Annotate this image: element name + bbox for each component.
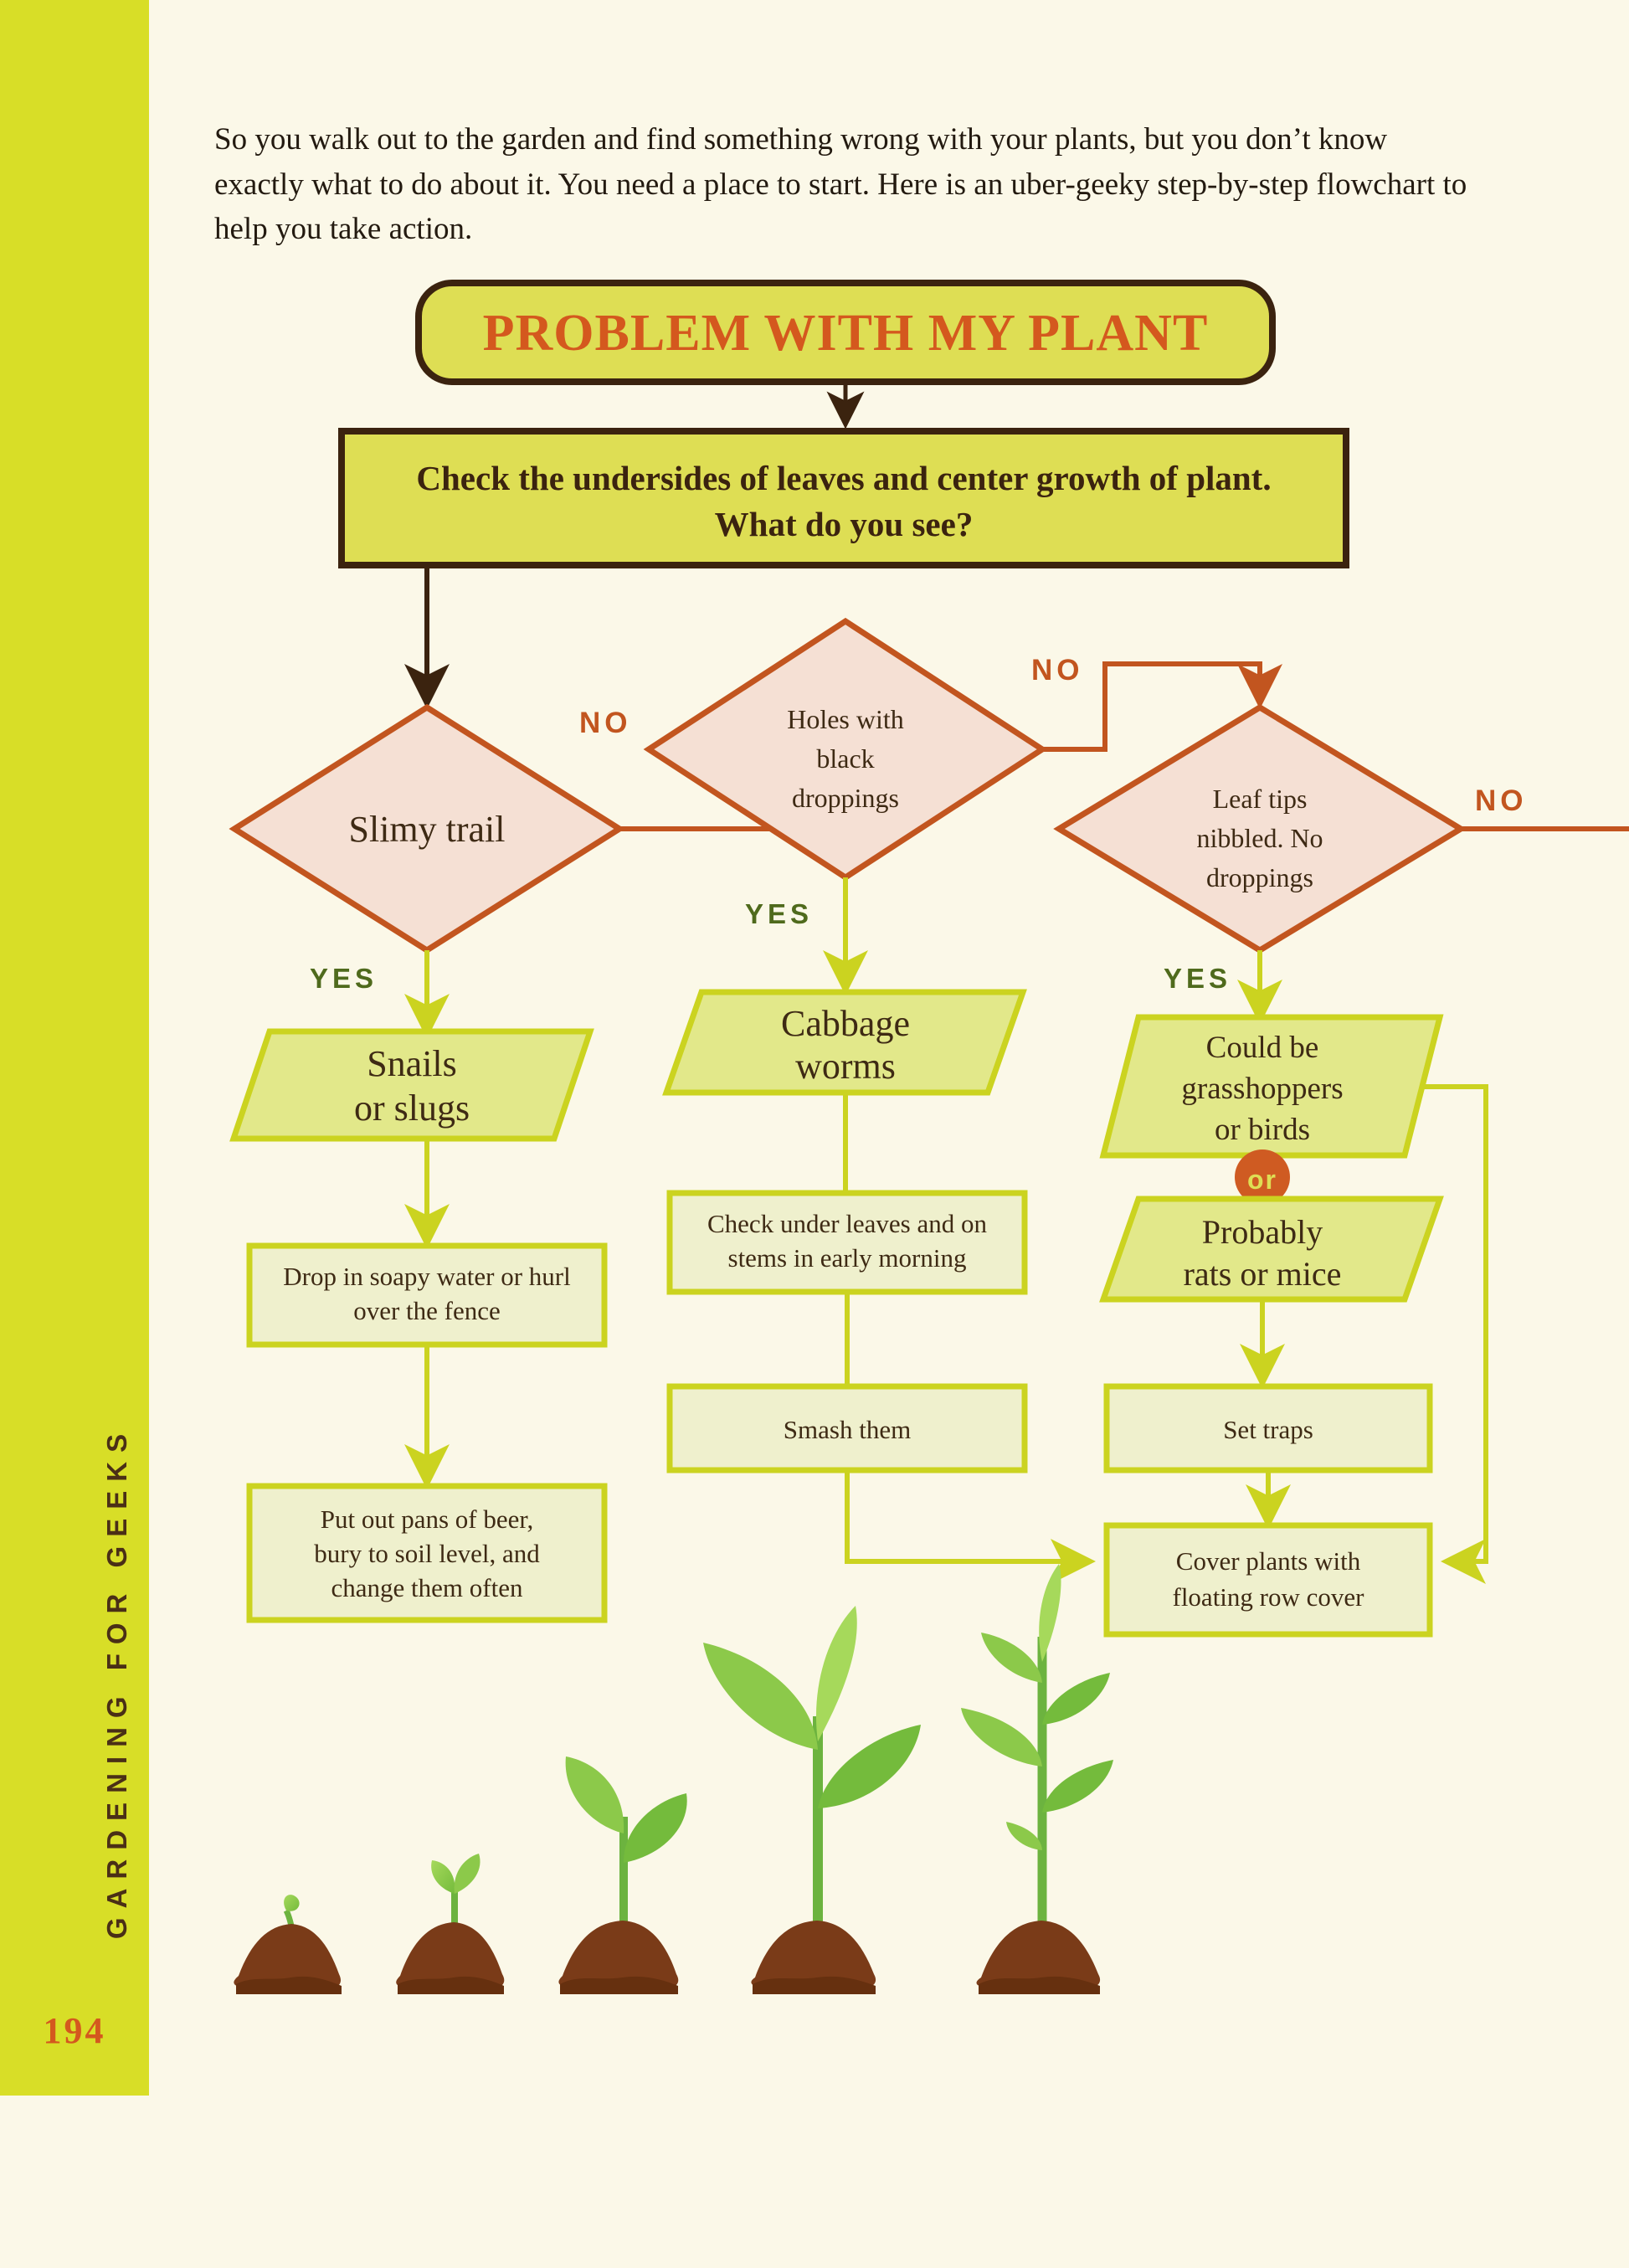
result-snails-line-2: or slugs (354, 1088, 470, 1129)
result-snails-or-slugs[interactable]: Snails or slugs (234, 1031, 590, 1139)
edge-smash-to-cover (847, 1470, 1088, 1561)
decision-leaf-line-1: Leaf tips (1213, 784, 1308, 814)
action-cover-line-1: Cover plants with (1176, 1546, 1361, 1576)
action-smash-them[interactable]: Smash them (670, 1386, 1025, 1470)
decision-slimy-trail-label: Slimy trail (349, 809, 506, 850)
result-grasshoppers-line-1: Could be (1206, 1031, 1319, 1065)
plant-stage-1 (234, 1895, 342, 1994)
result-snails-line-1: Snails (367, 1043, 457, 1084)
question-line-1: Check the undersides of leaves and cente… (416, 459, 1271, 497)
action-soapy-line-2: over the fence (353, 1296, 501, 1325)
edge-label-no-2: NO (1031, 654, 1084, 687)
action-beer-line-1: Put out pans of beer, (321, 1504, 533, 1534)
action-soapy-water[interactable]: Drop in soapy water or hurl over the fen… (249, 1246, 604, 1345)
edge-label-yes-2: YES (745, 898, 813, 929)
decision-leaf-tips-nibbled[interactable]: Leaf tips nibbled. No droppings (1059, 707, 1461, 950)
result-grasshoppers-line-3: or birds (1215, 1113, 1310, 1147)
flowchart-diagram: PROBLEM WITH MY PLANT Check the undersid… (0, 0, 1629, 2096)
action-set-traps-label: Set traps (1223, 1415, 1313, 1444)
decision-holes-black-droppings[interactable]: Holes with black droppings (649, 621, 1042, 877)
decision-holes-line-2: black (816, 743, 874, 774)
plant-stage-2 (396, 1854, 504, 1994)
or-badge-label: or (1247, 1165, 1277, 1195)
plant-stage-3 (558, 1756, 686, 1994)
action-cover-line-2: floating row cover (1173, 1582, 1365, 1612)
result-rats-line-1: Probably (1202, 1213, 1323, 1251)
action-soapy-line-1: Drop in soapy water or hurl (283, 1262, 571, 1291)
action-set-traps[interactable]: Set traps (1107, 1386, 1430, 1470)
start-node[interactable]: PROBLEM WITH MY PLANT (419, 283, 1272, 382)
result-rats-line-2: rats or mice (1184, 1255, 1342, 1293)
edge-label-no-1: NO (579, 707, 632, 739)
action-check-line-2: stems in early morning (728, 1243, 967, 1273)
action-check-line-1: Check under leaves and on (707, 1209, 987, 1238)
result-cabbage-worms[interactable]: Cabbage worms (666, 992, 1023, 1093)
decision-holes-line-1: Holes with (787, 704, 904, 734)
start-node-label: PROBLEM WITH MY PLANT (483, 305, 1209, 362)
question-node[interactable]: Check the undersides of leaves and cente… (342, 431, 1346, 565)
plant-stage-4 (703, 1606, 921, 1994)
action-check-under-leaves[interactable]: Check under leaves and on stems in early… (670, 1193, 1025, 1292)
result-grasshoppers-or-birds[interactable]: Could be grasshoppers or birds (1103, 1017, 1440, 1155)
action-smash-label: Smash them (784, 1415, 911, 1444)
plant-stage-5 (961, 1564, 1113, 1994)
decision-slimy-trail[interactable]: Slimy trail (234, 707, 619, 950)
question-line-2: What do you see? (715, 505, 974, 543)
action-pans-of-beer[interactable]: Put out pans of beer, bury to soil level… (249, 1486, 604, 1620)
action-beer-line-3: change them often (331, 1573, 523, 1602)
result-grasshoppers-line-2: grasshoppers (1181, 1072, 1343, 1106)
action-beer-line-2: bury to soil level, and (314, 1539, 540, 1568)
plant-growth-illustration (234, 1564, 1113, 1994)
decision-leaf-line-3: droppings (1206, 862, 1313, 892)
edge-grasshoppers-loop-to-cover (1421, 1087, 1486, 1561)
edge-label-yes-3: YES (1164, 963, 1231, 994)
action-floating-row-cover[interactable]: Cover plants with floating row cover (1107, 1525, 1430, 1634)
decision-holes-line-3: droppings (792, 783, 899, 813)
edge-label-yes-1: YES (310, 963, 378, 994)
edge-label-no-3: NO (1475, 784, 1528, 817)
decision-leaf-line-2: nibbled. No (1196, 823, 1323, 853)
result-rats-or-mice[interactable]: Probably rats or mice (1103, 1199, 1440, 1299)
result-cabbage-line-1: Cabbage (781, 1003, 910, 1044)
result-cabbage-line-2: worms (795, 1046, 896, 1087)
